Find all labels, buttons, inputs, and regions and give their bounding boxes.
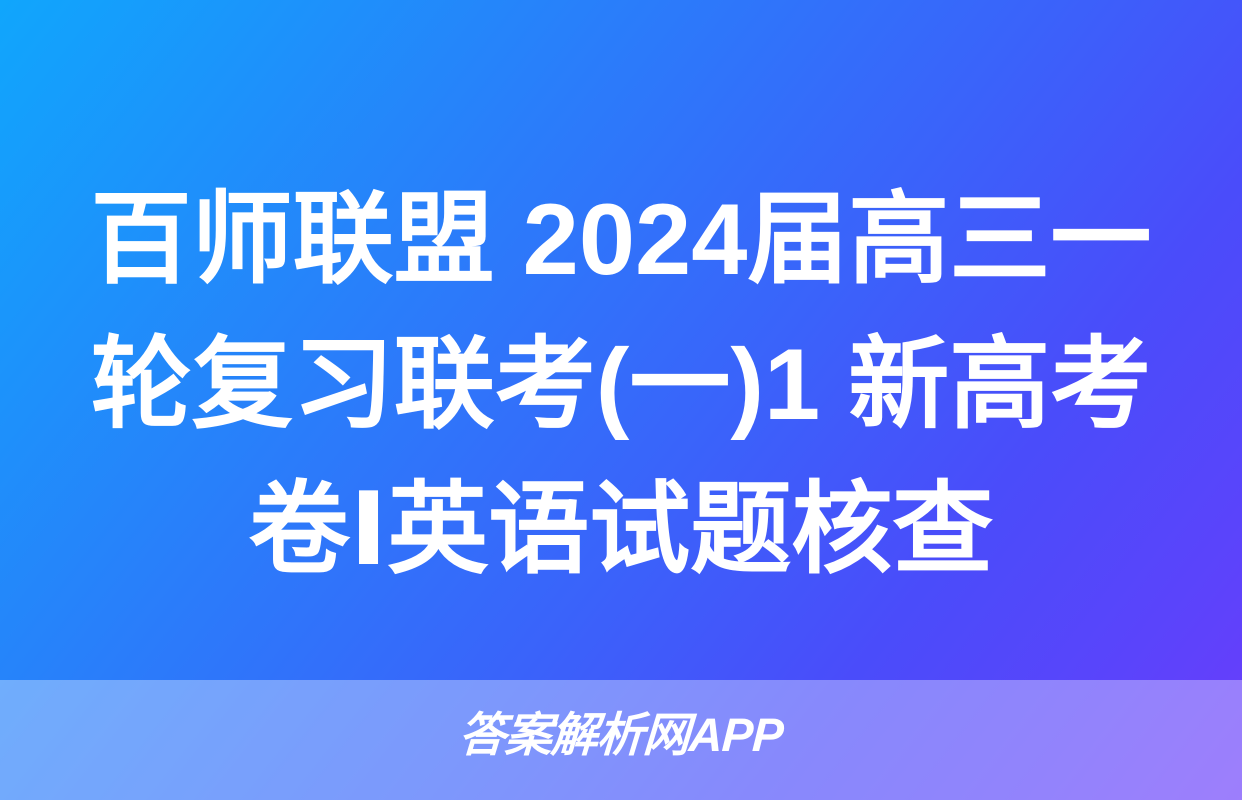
page-title-line-1: 百师联盟 2024届高三一 [24, 168, 1218, 313]
page-title: 百师联盟 2024届高三一 轮复习联考(一)1 新高考 卷Ⅰ英语试题核查 [0, 168, 1242, 603]
watermark: 答案解析网APP [0, 706, 1242, 764]
page-title-line-3: 卷Ⅰ英语试题核查 [24, 458, 1218, 603]
watermark-label: 答案解析网APP [458, 706, 785, 764]
poster-canvas: 百师联盟 2024届高三一 轮复习联考(一)1 新高考 卷Ⅰ英语试题核查 答案解… [0, 0, 1242, 800]
page-title-line-2: 轮复习联考(一)1 新高考 [24, 313, 1218, 458]
